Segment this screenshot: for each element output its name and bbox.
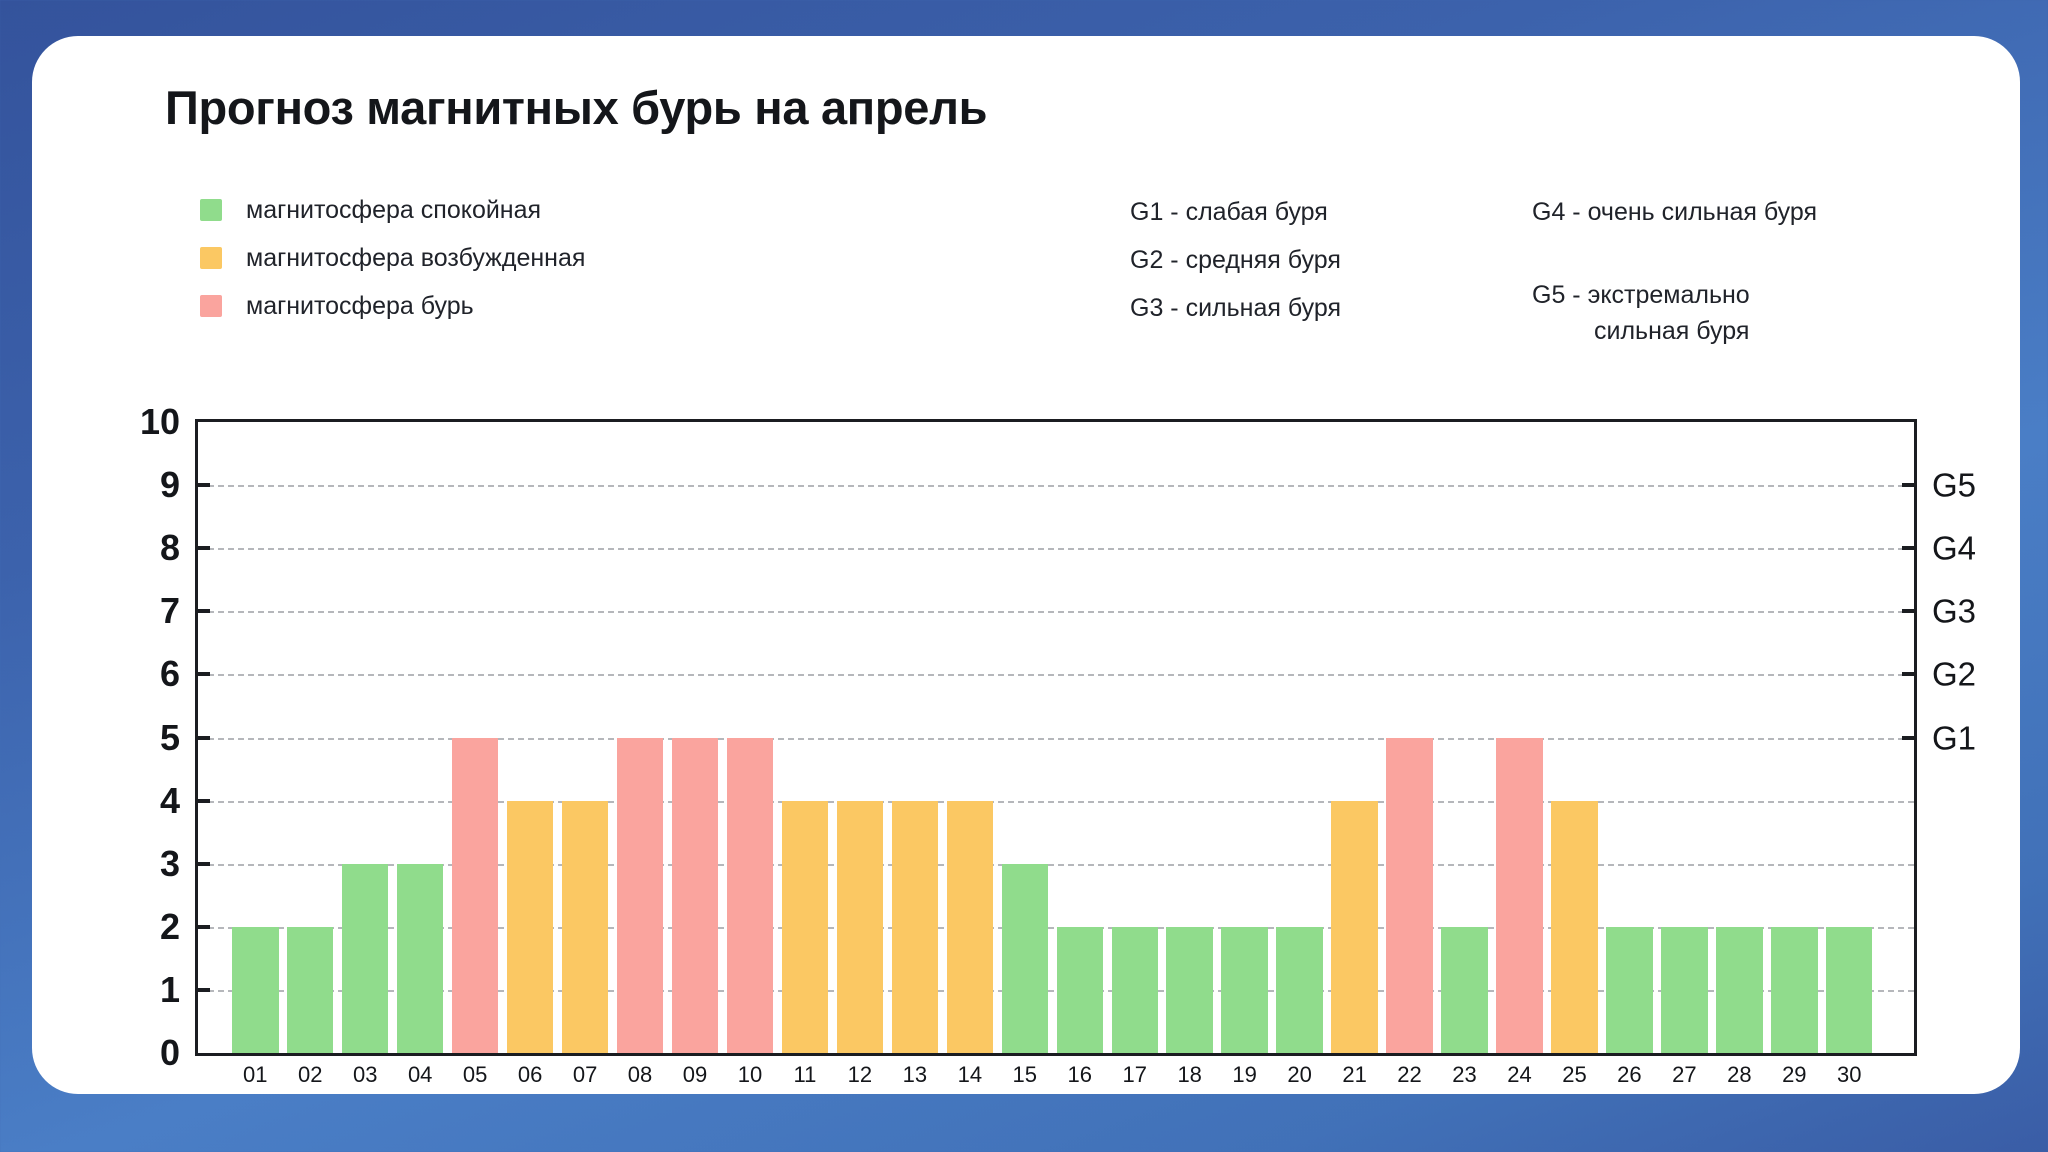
storm-scale-legend-column-1: G1 - слабая буряG2 - средняя буряG3 - си…	[1130, 188, 1490, 332]
x-axis-tick-label: 27	[1672, 1064, 1696, 1086]
secondary-axis-label: G4	[1932, 532, 1976, 565]
plot-area	[195, 419, 1917, 1056]
bar[interactable]	[562, 801, 608, 1053]
x-axis-tick-label: 16	[1068, 1064, 1092, 1086]
scale-item-g3: G3 - сильная буря	[1130, 284, 1490, 332]
scale-item-g5: G5 - экстремально сильная буря	[1532, 236, 1982, 385]
legend-swatch-icon	[200, 199, 222, 221]
y-axis-tick-label: 1	[160, 972, 180, 1008]
x-axis-tick-label: 20	[1287, 1064, 1311, 1086]
x-axis-tick-label: 13	[903, 1064, 927, 1086]
x-axis-tick-label: 07	[573, 1064, 597, 1086]
x-axis-tick-label: 11	[794, 1064, 817, 1086]
x-axis-tick-label: 15	[1013, 1064, 1037, 1086]
legend-item: магнитосфера спокойная	[200, 186, 820, 234]
x-axis-tick-label: 08	[628, 1064, 652, 1086]
x-axis-tick-label: 10	[738, 1064, 762, 1086]
y-axis-tick-label: 10	[140, 404, 180, 440]
x-axis-tick-label: 25	[1562, 1064, 1586, 1086]
x-axis-tick-label: 29	[1782, 1064, 1806, 1086]
secondary-axis-label: G5	[1932, 469, 1976, 502]
bar[interactable]	[1386, 738, 1432, 1054]
bar[interactable]	[232, 927, 278, 1053]
bar[interactable]	[1331, 801, 1377, 1053]
bar-series	[198, 422, 1914, 1053]
scale-item-g4: G4 - очень сильная буря	[1532, 188, 1982, 236]
scale-item-g2: G2 - средняя буря	[1130, 236, 1490, 284]
bar[interactable]	[1441, 927, 1487, 1053]
x-axis-tick-label: 03	[353, 1064, 377, 1086]
bar[interactable]	[1496, 738, 1542, 1054]
x-axis-tick-label: 22	[1397, 1064, 1421, 1086]
bar[interactable]	[1771, 927, 1817, 1053]
x-axis-tick-label: 23	[1452, 1064, 1476, 1086]
y-axis-labels: 012345678910	[92, 419, 180, 1056]
secondary-axis-label: G3	[1932, 595, 1976, 628]
x-axis-tick-label: 12	[848, 1064, 872, 1086]
x-axis-tick-label: 30	[1837, 1064, 1861, 1086]
bar[interactable]	[1221, 927, 1267, 1053]
legend-item-label: магнитосфера возбужденная	[246, 244, 585, 273]
secondary-axis-labels: G1G2G3G4G5	[1932, 419, 2048, 1056]
bar[interactable]	[1112, 927, 1158, 1053]
secondary-axis-label: G2	[1932, 658, 1976, 691]
color-legend: магнитосфера спокойнаямагнитосфера возбу…	[200, 186, 820, 330]
bar[interactable]	[1661, 927, 1707, 1053]
storm-scale-legend-column-2: G4 - очень сильная буря G5 - экстремальн…	[1532, 188, 1982, 385]
x-axis-tick-label: 26	[1617, 1064, 1641, 1086]
bar[interactable]	[1551, 801, 1597, 1053]
y-axis-tick-label: 7	[160, 593, 180, 629]
x-axis-tick-label: 02	[298, 1064, 322, 1086]
y-axis-tick-label: 0	[160, 1035, 180, 1071]
bar[interactable]	[837, 801, 883, 1053]
legend-item: магнитосфера возбужденная	[200, 234, 820, 282]
x-axis-tick-label: 18	[1177, 1064, 1201, 1086]
legend-swatch-icon	[200, 247, 222, 269]
y-axis-tick-label: 8	[160, 530, 180, 566]
x-axis-tick-label: 04	[408, 1064, 432, 1086]
x-axis-tick-label: 01	[243, 1064, 267, 1086]
secondary-axis-label: G1	[1932, 721, 1976, 754]
bar[interactable]	[892, 801, 938, 1053]
bar[interactable]	[727, 738, 773, 1054]
scale-item-g1: G1 - слабая буря	[1130, 188, 1490, 236]
x-axis-tick-label: 14	[958, 1064, 982, 1086]
legend-item-label: магнитосфера бурь	[246, 292, 474, 321]
y-axis-tick-label: 2	[160, 909, 180, 945]
bar[interactable]	[1166, 927, 1212, 1053]
bar[interactable]	[342, 864, 388, 1053]
x-axis-tick-label: 06	[518, 1064, 542, 1086]
bar[interactable]	[287, 927, 333, 1053]
x-axis-tick-label: 19	[1232, 1064, 1256, 1086]
legend-swatch-icon	[200, 295, 222, 317]
bar[interactable]	[1002, 864, 1048, 1053]
x-axis-tick-label: 09	[683, 1064, 707, 1086]
bar[interactable]	[507, 801, 553, 1053]
bar[interactable]	[397, 864, 443, 1053]
x-axis-tick-label: 24	[1507, 1064, 1531, 1086]
bar[interactable]	[1716, 927, 1762, 1053]
bar[interactable]	[782, 801, 828, 1053]
y-axis-tick-label: 9	[160, 467, 180, 503]
y-axis-tick-label: 4	[160, 783, 180, 819]
y-axis-tick-label: 3	[160, 846, 180, 882]
scale-item-g5-line2: сильная буря	[1532, 313, 1982, 349]
x-axis-labels: 0102030405060708091011121314151617181920…	[195, 1064, 1917, 1104]
chart-card: Прогноз магнитных бурь на апрель магнито…	[32, 36, 2020, 1094]
scale-item-g5-line1: G5 - экстремально	[1532, 281, 1750, 309]
bar[interactable]	[1276, 927, 1322, 1053]
x-axis-tick-label: 17	[1122, 1064, 1146, 1086]
bar[interactable]	[1606, 927, 1652, 1053]
x-axis-tick-label: 21	[1342, 1064, 1366, 1086]
bar[interactable]	[947, 801, 993, 1053]
x-axis-tick-label: 28	[1727, 1064, 1751, 1086]
legend-item: магнитосфера бурь	[200, 282, 820, 330]
y-axis-tick-label: 6	[160, 656, 180, 692]
bar[interactable]	[1057, 927, 1103, 1053]
bar[interactable]	[1826, 927, 1872, 1053]
bar[interactable]	[617, 738, 663, 1054]
bar[interactable]	[452, 738, 498, 1054]
x-axis-tick-label: 05	[463, 1064, 487, 1086]
bar[interactable]	[672, 738, 718, 1054]
legend-item-label: магнитосфера спокойная	[246, 196, 541, 225]
y-axis-tick-label: 5	[160, 720, 180, 756]
page-title: Прогноз магнитных бурь на апрель	[165, 80, 987, 135]
